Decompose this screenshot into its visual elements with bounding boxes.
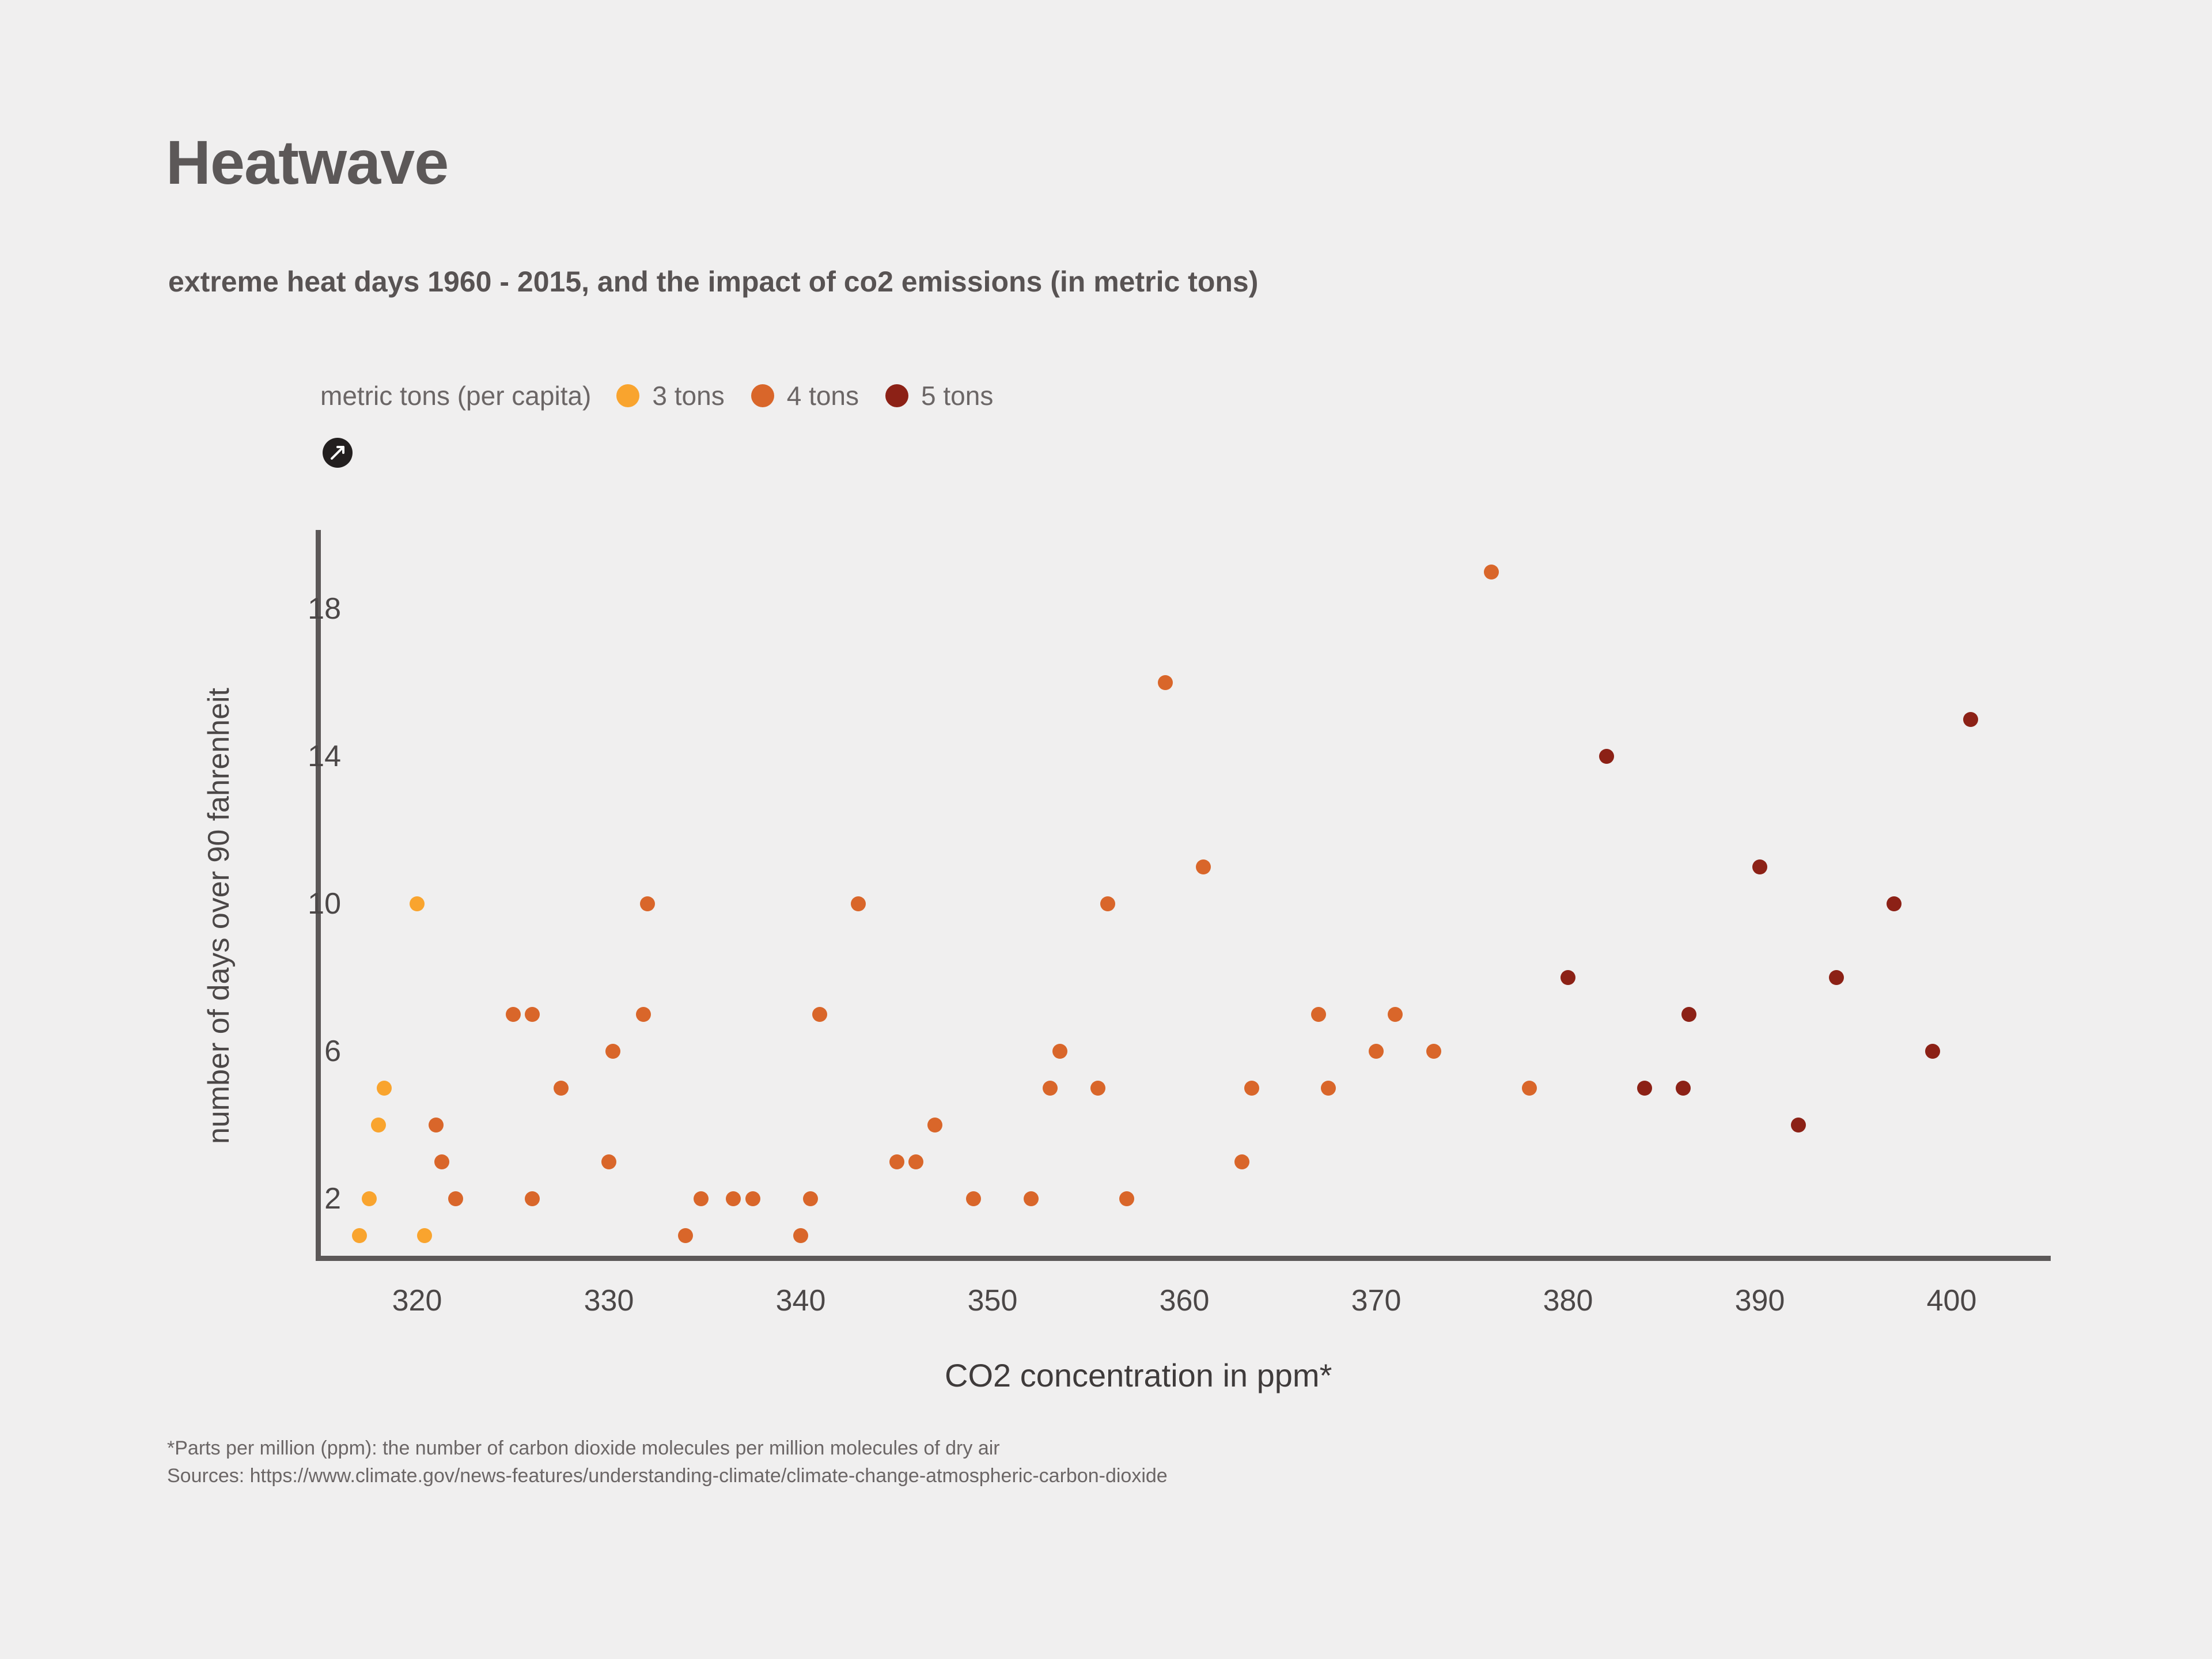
scatter-point[interactable] — [1887, 896, 1902, 911]
scatter-point[interactable] — [1043, 1081, 1058, 1096]
scatter-point[interactable] — [745, 1191, 760, 1206]
scatter-point[interactable] — [410, 896, 425, 911]
scatter-point[interactable] — [1024, 1191, 1039, 1206]
scatter-point[interactable] — [694, 1191, 709, 1206]
scatter-point[interactable] — [352, 1228, 367, 1243]
scatter-point[interactable] — [1119, 1191, 1134, 1206]
scatter-point[interactable] — [1244, 1081, 1259, 1096]
x-axis-tick: 330 — [584, 1283, 634, 1318]
scatter-point[interactable] — [601, 1154, 616, 1169]
scatter-point[interactable] — [1426, 1044, 1441, 1059]
y-axis-tick: 6 — [324, 1034, 341, 1069]
scatter-point[interactable] — [1388, 1007, 1403, 1022]
legend-swatch-4-tons — [751, 384, 774, 407]
page-title: Heatwave — [166, 131, 448, 194]
page-subtitle: extreme heat days 1960 - 2015, and the i… — [168, 265, 1258, 298]
scatter-point[interactable] — [927, 1118, 942, 1132]
legend-swatch-5-tons — [885, 384, 908, 407]
scatter-point[interactable] — [362, 1191, 377, 1206]
x-axis-label: CO2 concentration in ppm* — [945, 1357, 1332, 1394]
scatter-point[interactable] — [1100, 896, 1115, 911]
legend-swatch-3-tons — [616, 384, 639, 407]
scatter-point[interactable] — [1369, 1044, 1384, 1059]
scatter-point[interactable] — [636, 1007, 651, 1022]
scatter-point[interactable] — [1829, 970, 1844, 985]
footnote-ppm: *Parts per million (ppm): the number of … — [167, 1434, 1168, 1462]
scatter-point[interactable] — [1963, 712, 1978, 727]
scatter-point[interactable] — [1560, 970, 1575, 985]
scatter-point[interactable] — [1676, 1081, 1691, 1096]
footnotes: *Parts per million (ppm): the number of … — [167, 1434, 1168, 1490]
x-axis-tick: 390 — [1735, 1283, 1785, 1318]
legend-label-5-tons: 5 tons — [921, 380, 993, 411]
scatter-point[interactable] — [1791, 1118, 1806, 1132]
legend-item-4-tons[interactable]: 4 tons — [751, 380, 859, 411]
y-axis-tick: 14 — [308, 739, 341, 774]
scatter-point[interactable] — [525, 1007, 540, 1022]
x-axis-tick: 370 — [1351, 1283, 1402, 1318]
scatter-point[interactable] — [812, 1007, 827, 1022]
scatter-point[interactable] — [605, 1044, 620, 1059]
scatter-point[interactable] — [793, 1228, 808, 1243]
scatter-point[interactable] — [908, 1154, 923, 1169]
scatter-point[interactable] — [417, 1228, 432, 1243]
scatter-point[interactable] — [448, 1191, 463, 1206]
scatter-point[interactable] — [1522, 1081, 1537, 1096]
scatter-point[interactable] — [1637, 1081, 1652, 1096]
y-axis-tick: 2 — [324, 1181, 341, 1216]
legend-label-4-tons: 4 tons — [787, 380, 859, 411]
scatter-point[interactable] — [1321, 1081, 1336, 1096]
legend-label-3-tons: 3 tons — [652, 380, 724, 411]
x-axis-tick: 400 — [1927, 1283, 1977, 1318]
legend-title: metric tons (per capita) — [320, 380, 591, 411]
x-axis-tick: 320 — [392, 1283, 442, 1318]
scatter-point[interactable] — [678, 1228, 693, 1243]
scatter-point[interactable] — [640, 896, 655, 911]
scatter-point[interactable] — [1090, 1081, 1105, 1096]
scatter-plot: number of days over 90 fahrenheit CO2 co… — [0, 0, 2212, 1659]
scatter-point[interactable] — [1681, 1007, 1696, 1022]
x-axis-tick: 360 — [1160, 1283, 1210, 1318]
scatter-point[interactable] — [889, 1154, 904, 1169]
legend-item-3-tons[interactable]: 3 tons — [616, 380, 724, 411]
x-axis-line — [316, 1256, 2051, 1261]
x-axis-tick: 380 — [1543, 1283, 1593, 1318]
scatter-point[interactable] — [803, 1191, 818, 1206]
y-axis-line — [316, 530, 321, 1260]
scatter-point[interactable] — [1599, 749, 1614, 764]
scatter-point[interactable] — [525, 1191, 540, 1206]
scatter-point[interactable] — [966, 1191, 981, 1206]
scatter-point[interactable] — [1052, 1044, 1067, 1059]
y-axis-tick: 18 — [308, 592, 341, 626]
expand-arrow-icon[interactable] — [323, 438, 353, 468]
scatter-point[interactable] — [1925, 1044, 1940, 1059]
scatter-point[interactable] — [1311, 1007, 1326, 1022]
chart-page: Heatwave extreme heat days 1960 - 2015, … — [0, 0, 2212, 1659]
x-axis-tick: 340 — [776, 1283, 826, 1318]
scatter-point[interactable] — [1752, 859, 1767, 874]
scatter-point[interactable] — [1484, 565, 1499, 579]
footnote-sources: Sources: https://www.climate.gov/news-fe… — [167, 1462, 1168, 1490]
x-axis-tick: 350 — [968, 1283, 1018, 1318]
scatter-point[interactable] — [506, 1007, 521, 1022]
scatter-point[interactable] — [1158, 675, 1173, 690]
y-axis-tick: 10 — [308, 887, 341, 921]
scatter-point[interactable] — [1196, 859, 1211, 874]
scatter-point[interactable] — [377, 1081, 392, 1096]
scatter-point[interactable] — [1234, 1154, 1249, 1169]
scatter-point[interactable] — [429, 1118, 444, 1132]
scatter-point[interactable] — [434, 1154, 449, 1169]
scatter-point[interactable] — [371, 1118, 386, 1132]
legend-item-5-tons[interactable]: 5 tons — [885, 380, 993, 411]
scatter-point[interactable] — [726, 1191, 741, 1206]
scatter-point[interactable] — [851, 896, 866, 911]
chart-legend: metric tons (per capita) 3 tons 4 tons 5… — [320, 380, 1020, 411]
scatter-point[interactable] — [554, 1081, 569, 1096]
y-axis-label: number of days over 90 fahrenheit — [202, 685, 236, 1146]
